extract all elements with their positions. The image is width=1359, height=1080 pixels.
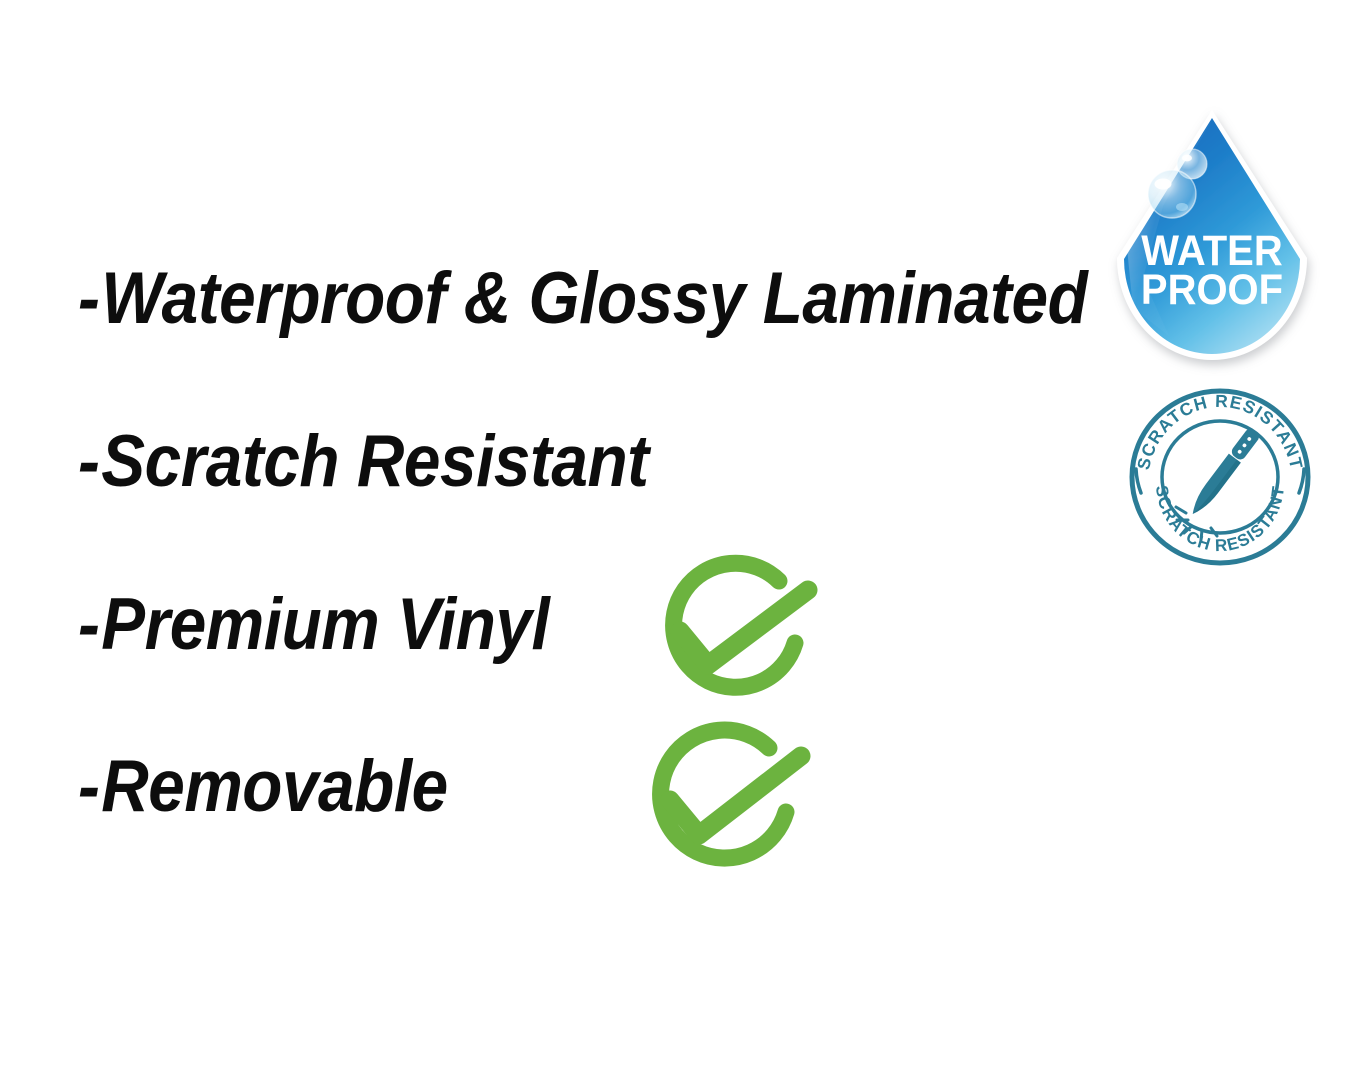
circle-check-icon	[636, 557, 842, 707]
feature-bullet: -	[78, 750, 99, 823]
stamp-text-bottom: SCRATCH RESISTANT	[1152, 484, 1288, 555]
feature-label: Removable	[101, 750, 448, 823]
waterproof-line2: PROOF	[1141, 265, 1283, 314]
scratch-resistant-badge: SCRATCH RESISTANT SCRATCH RESISTANT	[1124, 383, 1316, 571]
feature-item-premium-vinyl: -Premium Vinyl	[78, 588, 549, 661]
feature-item-scratch-resistant: -Scratch Resistant	[78, 425, 649, 498]
knife-stamp-icon: SCRATCH RESISTANT SCRATCH RESISTANT	[1124, 383, 1316, 571]
feature-item-waterproof: -Waterproof & Glossy Laminated	[78, 262, 1087, 335]
feature-highlight-graphic: -Waterproof & Glossy Laminated -Scratch …	[0, 0, 1359, 1080]
water-drop-icon: WATER PROOF	[1103, 108, 1321, 366]
feature-bullet: -	[78, 425, 99, 498]
waterproof-badge: WATER PROOF	[1103, 108, 1321, 366]
check-icon-removable	[626, 718, 832, 884]
check-icon-premium-vinyl	[636, 557, 842, 707]
feature-bullet: -	[78, 588, 99, 661]
circle-check-icon	[626, 718, 832, 884]
stamp-text-top: SCRATCH RESISTANT	[1133, 391, 1307, 472]
feature-label: Premium Vinyl	[101, 588, 549, 661]
waterproof-text: WATER PROOF	[1141, 226, 1283, 314]
feature-item-removable: -Removable	[78, 750, 448, 823]
feature-label: Waterproof & Glossy Laminated	[101, 262, 1087, 335]
feature-bullet: -	[78, 262, 99, 335]
feature-label: Scratch Resistant	[101, 425, 648, 498]
